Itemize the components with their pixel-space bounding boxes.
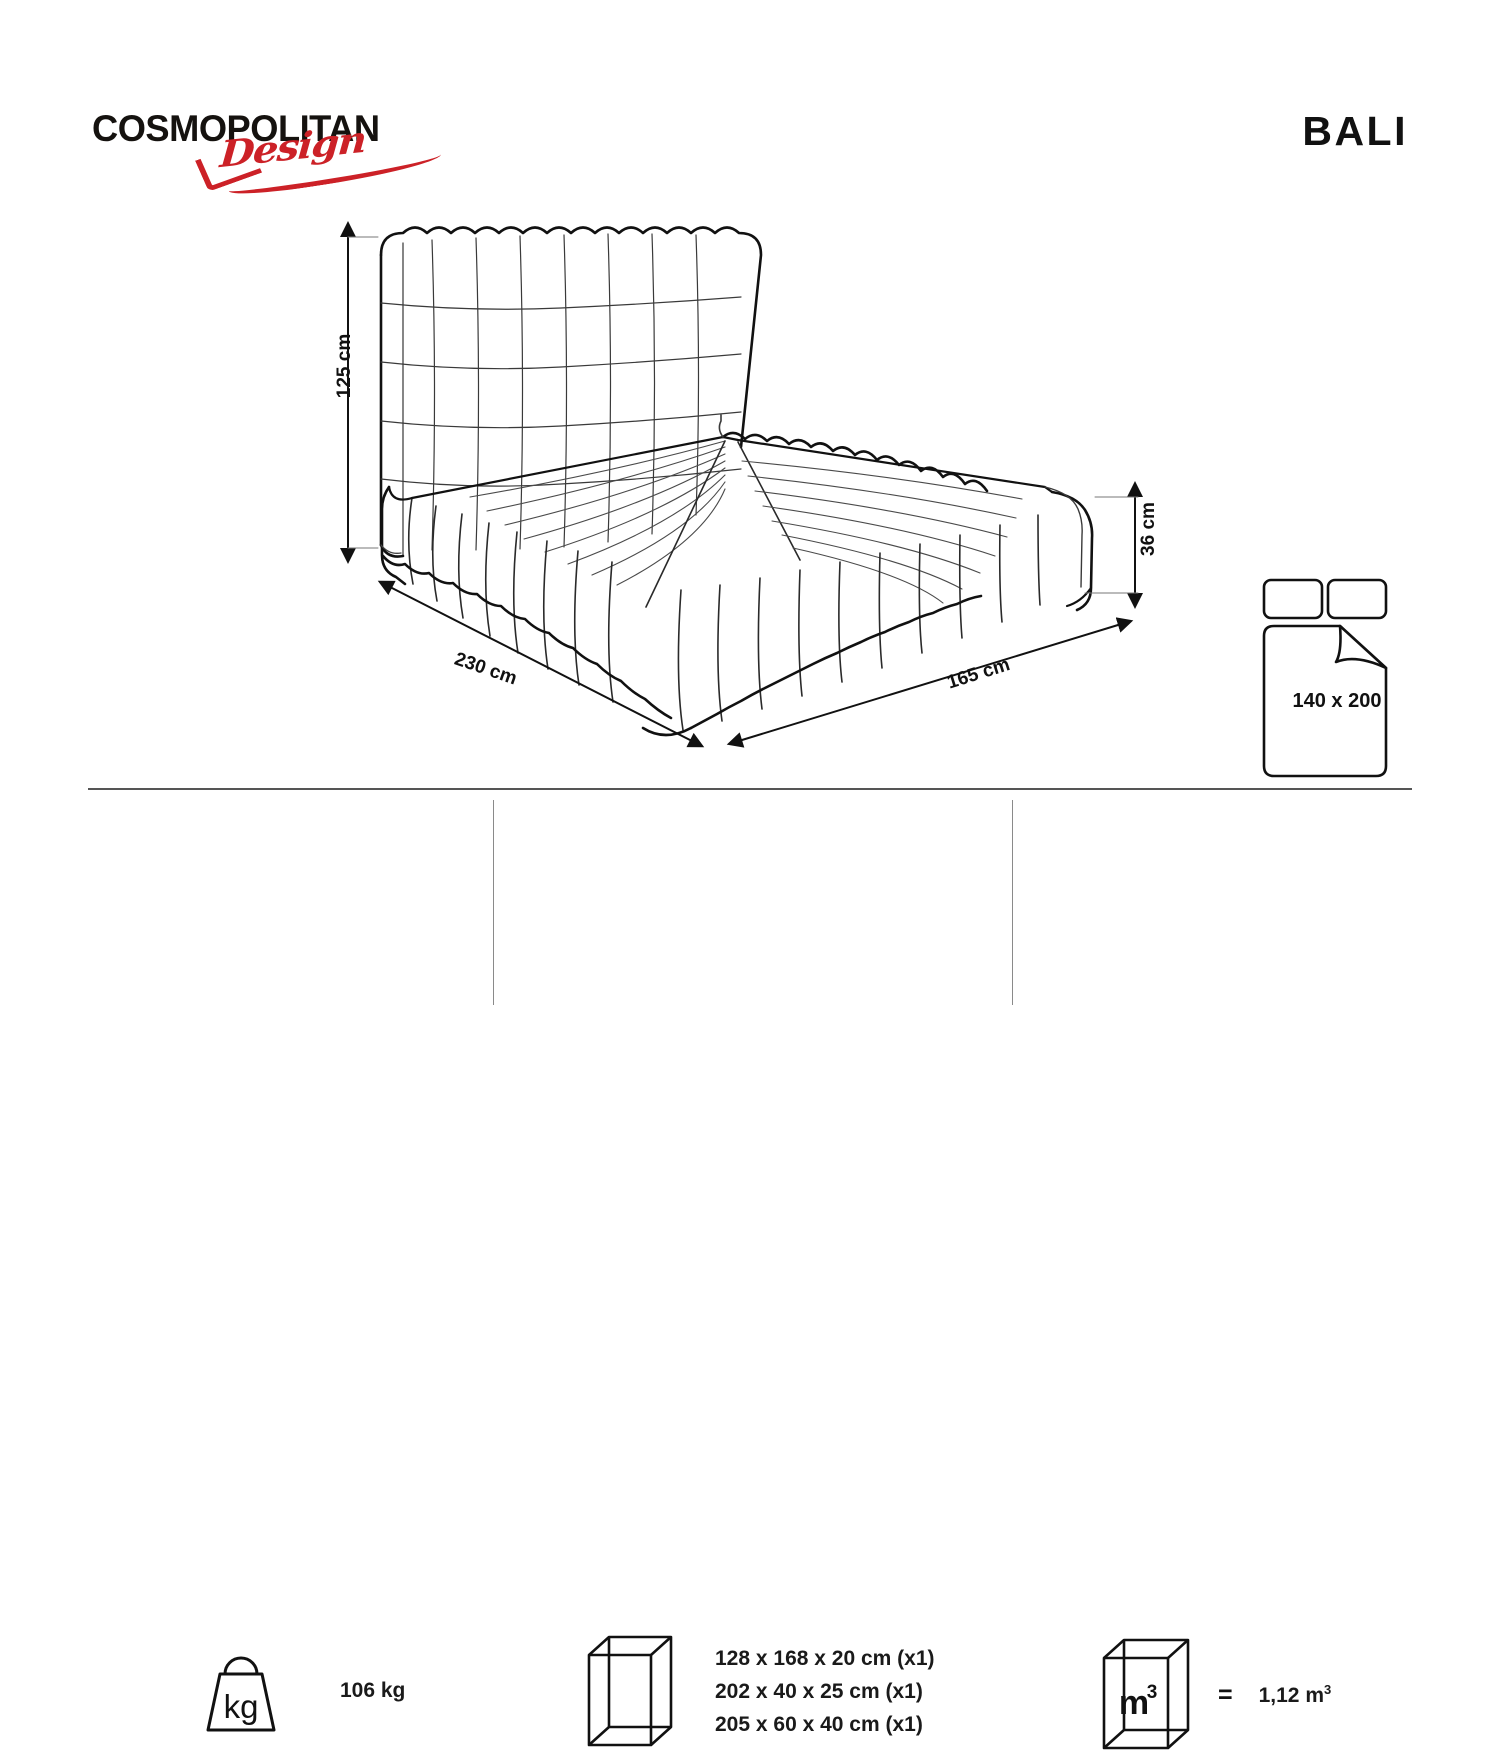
dimension-label-base-height: 36 cm <box>1138 502 1160 556</box>
weight-spec: kg 106 kg <box>200 1648 405 1734</box>
dimension-label-headboard-height: 125 cm <box>334 334 356 398</box>
package-line: 128 x 168 x 20 cm (x1) <box>715 1647 935 1671</box>
volume-cube-icon: m 3 <box>1100 1636 1192 1754</box>
volume-value-exponent: 3 <box>1324 1682 1331 1697</box>
volume-value: 1,12 m3 <box>1259 1682 1332 1708</box>
volume-icon-label-exponent: 3 <box>1147 1682 1158 1703</box>
mattress-size-label: 140 x 200 <box>1262 690 1412 713</box>
product-technical-drawing: 125 cm 36 cm 230 cm 165 cm 140 x 200 <box>0 0 1500 800</box>
weight-kg-icon: kg <box>200 1648 280 1734</box>
packages-spec: 128 x 168 x 20 cm (x1) 202 x 40 x 25 cm … <box>585 1633 935 1751</box>
mattress-with-pillows-icon <box>1262 578 1412 778</box>
package-line: 202 x 40 x 25 cm (x1) <box>715 1680 935 1704</box>
volume-value-number: 1,12 m <box>1259 1684 1324 1707</box>
weight-value: 106 kg <box>340 1679 405 1703</box>
package-line: 205 x 60 x 40 cm (x1) <box>715 1713 935 1737</box>
packages-list: 128 x 168 x 20 cm (x1) 202 x 40 x 25 cm … <box>715 1647 935 1737</box>
weight-icon-label: kg <box>224 1688 259 1725</box>
package-box-icon <box>585 1633 675 1751</box>
volume-equals-sign: = <box>1218 1681 1233 1710</box>
volume-icon-label: m <box>1119 1684 1149 1722</box>
volume-spec: m 3 = 1,12 m3 <box>1100 1636 1331 1754</box>
mattress-size-icon: 140 x 200 <box>1262 578 1412 778</box>
specifications-panel: kg 106 kg 128 x 168 x 20 cm (x1) 202 x 4… <box>0 788 1500 1048</box>
